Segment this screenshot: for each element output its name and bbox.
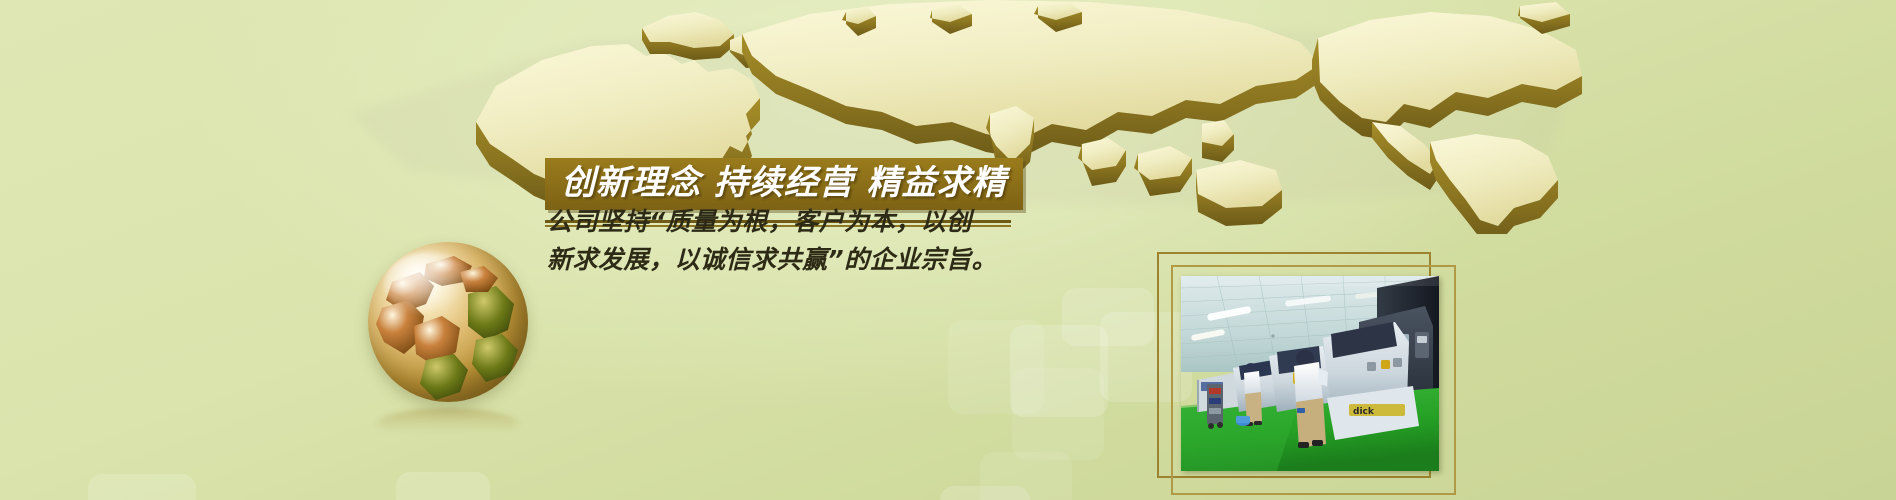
decor-square [1062,288,1154,346]
globe-reflection [378,408,518,440]
company-culture-banner: 创新理念 持续经营 精益求精 公司坚持“质量为根，客户为本，以创 新求发展，以诚… [0,0,1896,500]
subtitle-line-1: 公司坚持“质量为根，客户为本，以创 [547,203,1167,241]
decor-square [940,486,1030,500]
parts-rack [1207,384,1223,429]
globe-sphere [368,242,528,402]
subtitle-block: 公司坚持“质量为根，客户为本，以创 新求发展，以诚信求共赢”的企业宗旨。 [547,203,1167,279]
subtitle-line-2: 新求发展，以诚信求共赢”的企业宗旨。 [547,241,1167,279]
map-landmass-australia [1196,160,1282,226]
factory-photo-block: dick [1157,252,1457,497]
decor-square [396,472,490,500]
decor-square [948,320,1044,414]
decor-square [88,474,196,500]
globe-graphic [368,242,533,457]
headline-text: 创新理念 持续经营 精益求精 [561,163,1007,203]
globe-highlight [384,252,474,316]
svg-text:dick: dick [1353,407,1375,417]
factory-photo: dick [1181,276,1439,471]
